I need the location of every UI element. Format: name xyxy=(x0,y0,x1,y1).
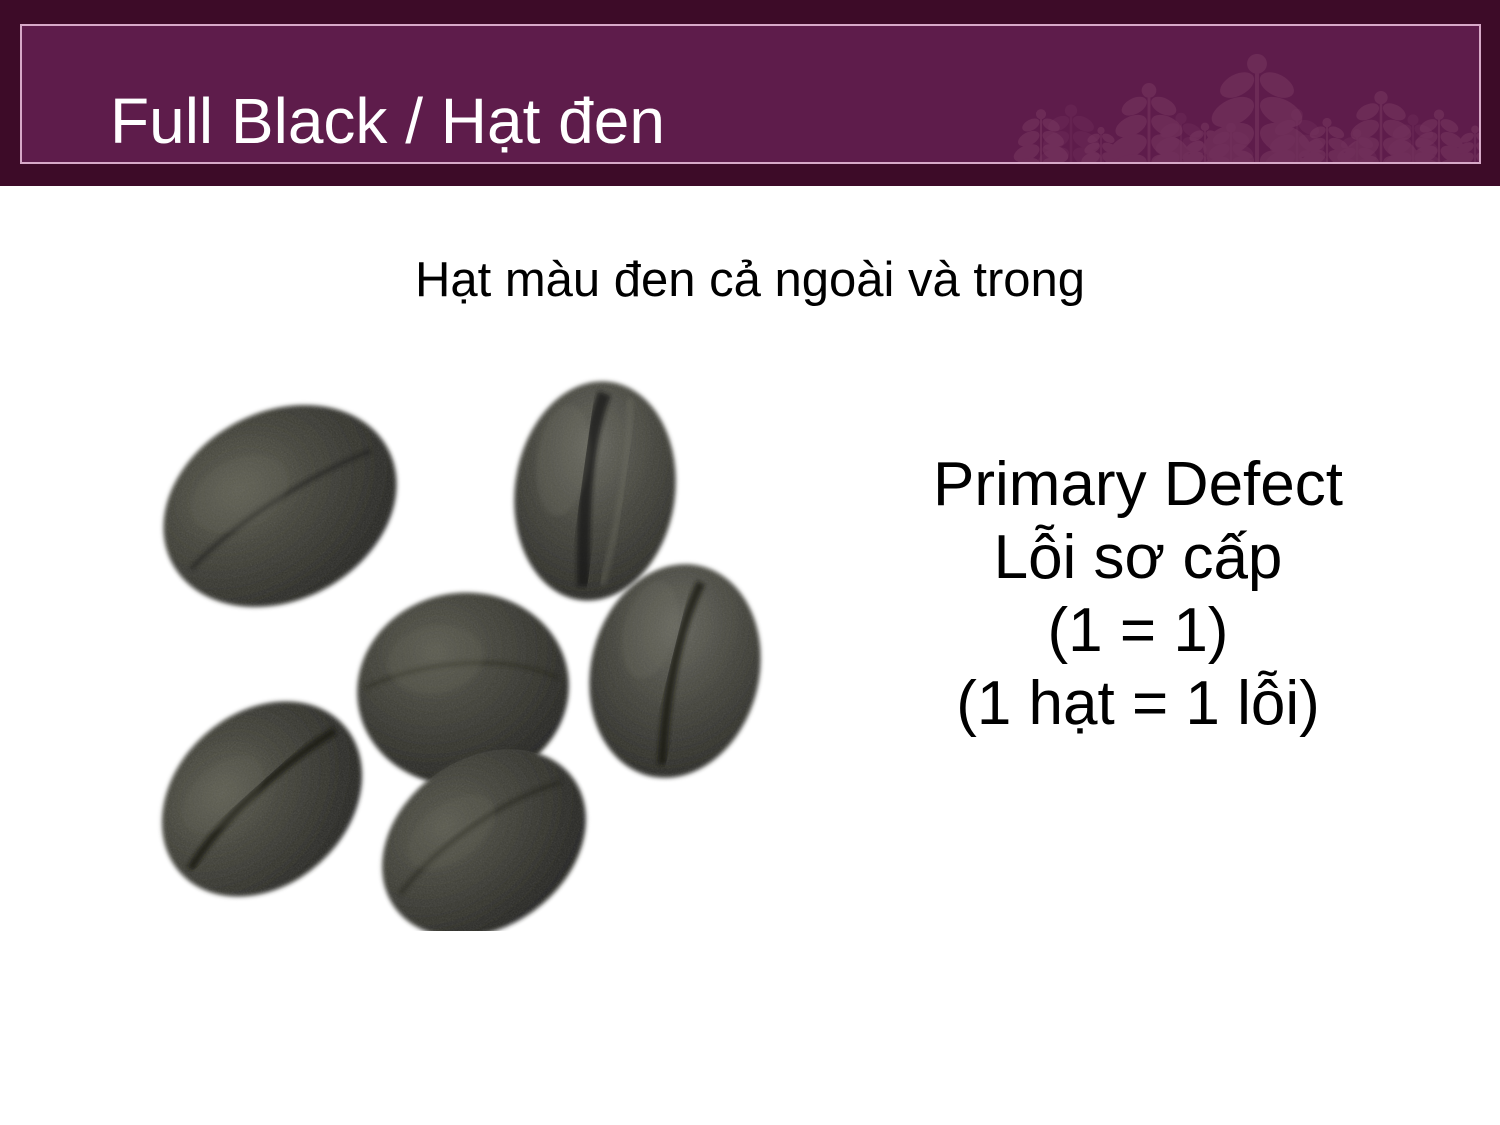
defect-info-block: Primary Defect Lỗi sơ cấp (1 = 1) (1 hạt… xyxy=(888,448,1388,740)
slide-body: Hạt màu đen cả ngoài và trong xyxy=(0,186,1500,1125)
coffee-beans-image xyxy=(140,371,860,931)
page-title: Full Black / Hạt đen xyxy=(110,83,665,159)
coffee-bean xyxy=(140,371,432,646)
slide-header-panel: Full Black / Hạt đen xyxy=(20,24,1481,164)
defect-line-ratio: (1 = 1) xyxy=(888,594,1388,667)
coffee-beans-illustration xyxy=(140,371,860,931)
slide-header-band: Full Black / Hạt đen xyxy=(0,0,1500,186)
defect-line-primary: Primary Defect xyxy=(888,448,1388,521)
defect-line-primary-vi: Lỗi sơ cấp xyxy=(888,521,1388,594)
defect-line-ratio-vi: (1 hạt = 1 lỗi) xyxy=(888,667,1388,740)
slide-subtitle: Hạt màu đen cả ngoài và trong xyxy=(0,251,1500,309)
plant-sprig-decoration-icon xyxy=(1009,26,1479,164)
